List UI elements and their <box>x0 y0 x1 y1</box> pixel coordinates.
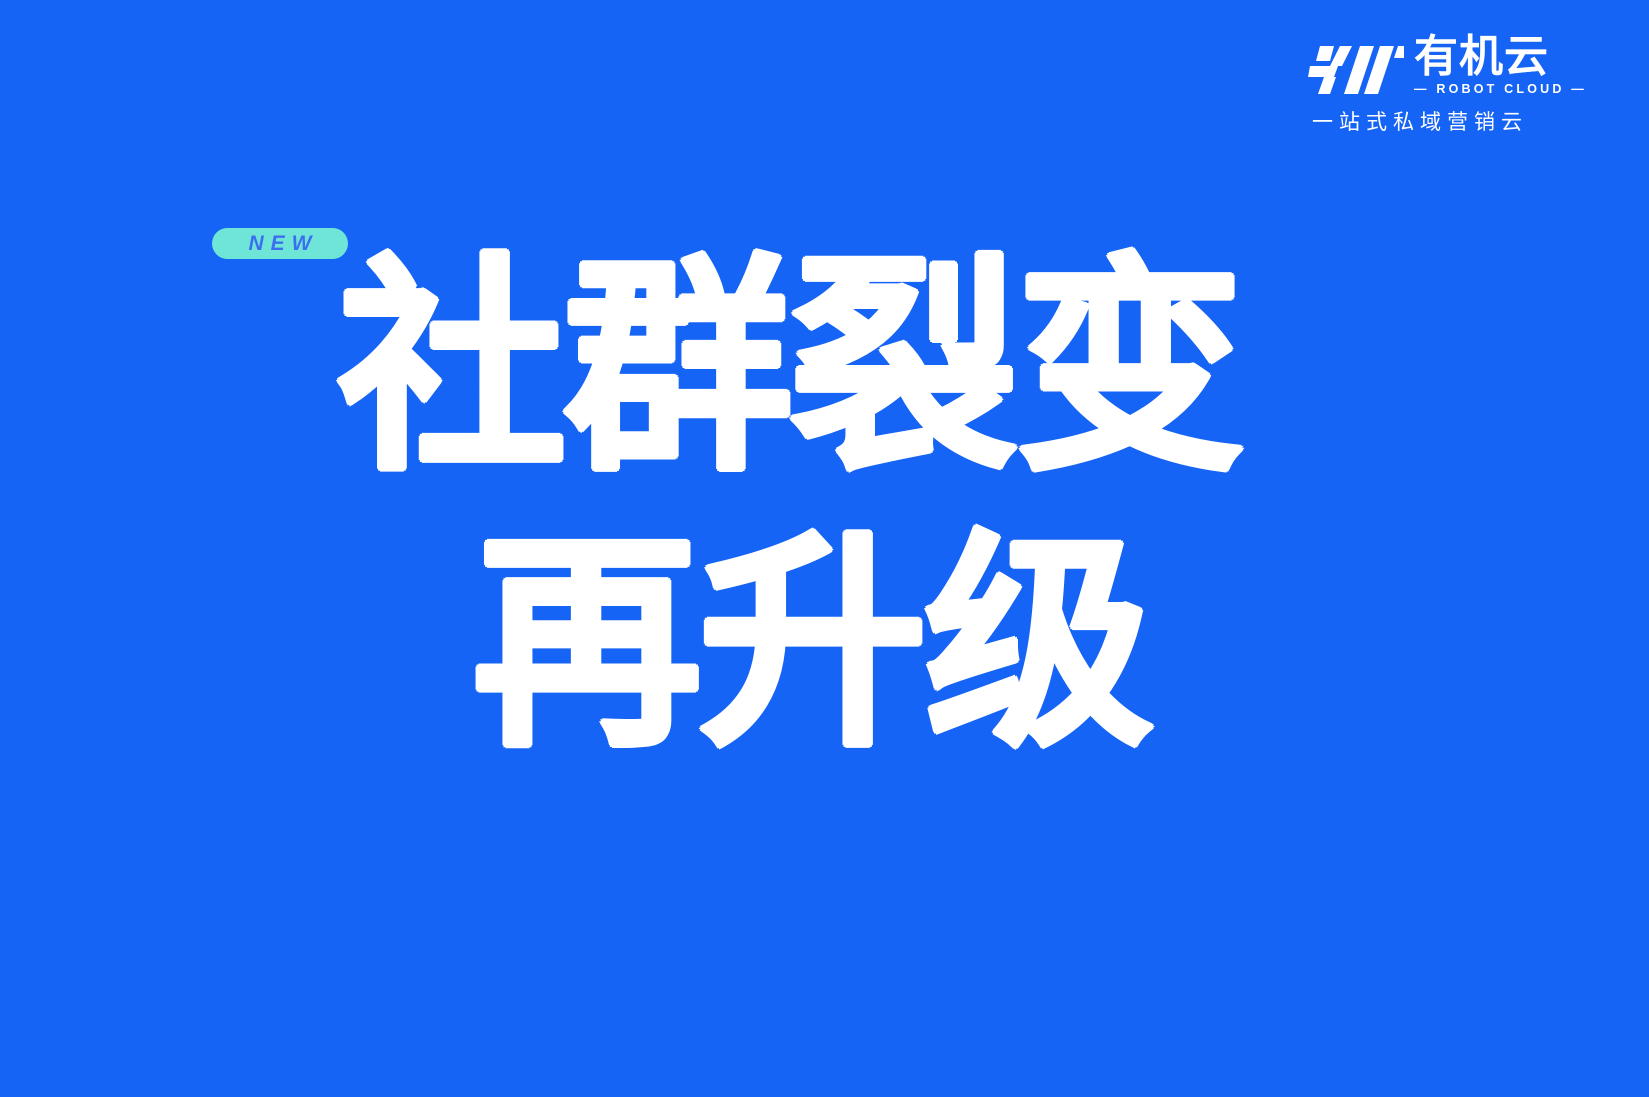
robot-cloud-logomark-icon <box>1308 44 1404 96</box>
brand-wordmark-block: 有机云 — ROBOT CLOUD — <box>1414 35 1587 96</box>
new-badge-label: NEW <box>242 233 319 254</box>
brand-tagline: 一站式私域营销云 <box>1247 110 1587 134</box>
poster-canvas: 有机云 — ROBOT CLOUD — 一站式私域营销云 NEW 社群裂变 再升… <box>0 0 1649 1097</box>
headline-line-2: 再升级 <box>473 519 1151 769</box>
new-badge: NEW <box>212 228 348 259</box>
brand-name-latin: — ROBOT CLOUD — <box>1414 82 1587 96</box>
headline-line-1: 社群裂变 <box>338 243 1242 493</box>
brand-name-cn: 有机云 <box>1414 35 1587 79</box>
brand-primary-row: 有机云 — ROBOT CLOUD — <box>1247 38 1587 96</box>
brand-logo-block: 有机云 — ROBOT CLOUD — 一站式私域营销云 <box>1247 38 1587 134</box>
